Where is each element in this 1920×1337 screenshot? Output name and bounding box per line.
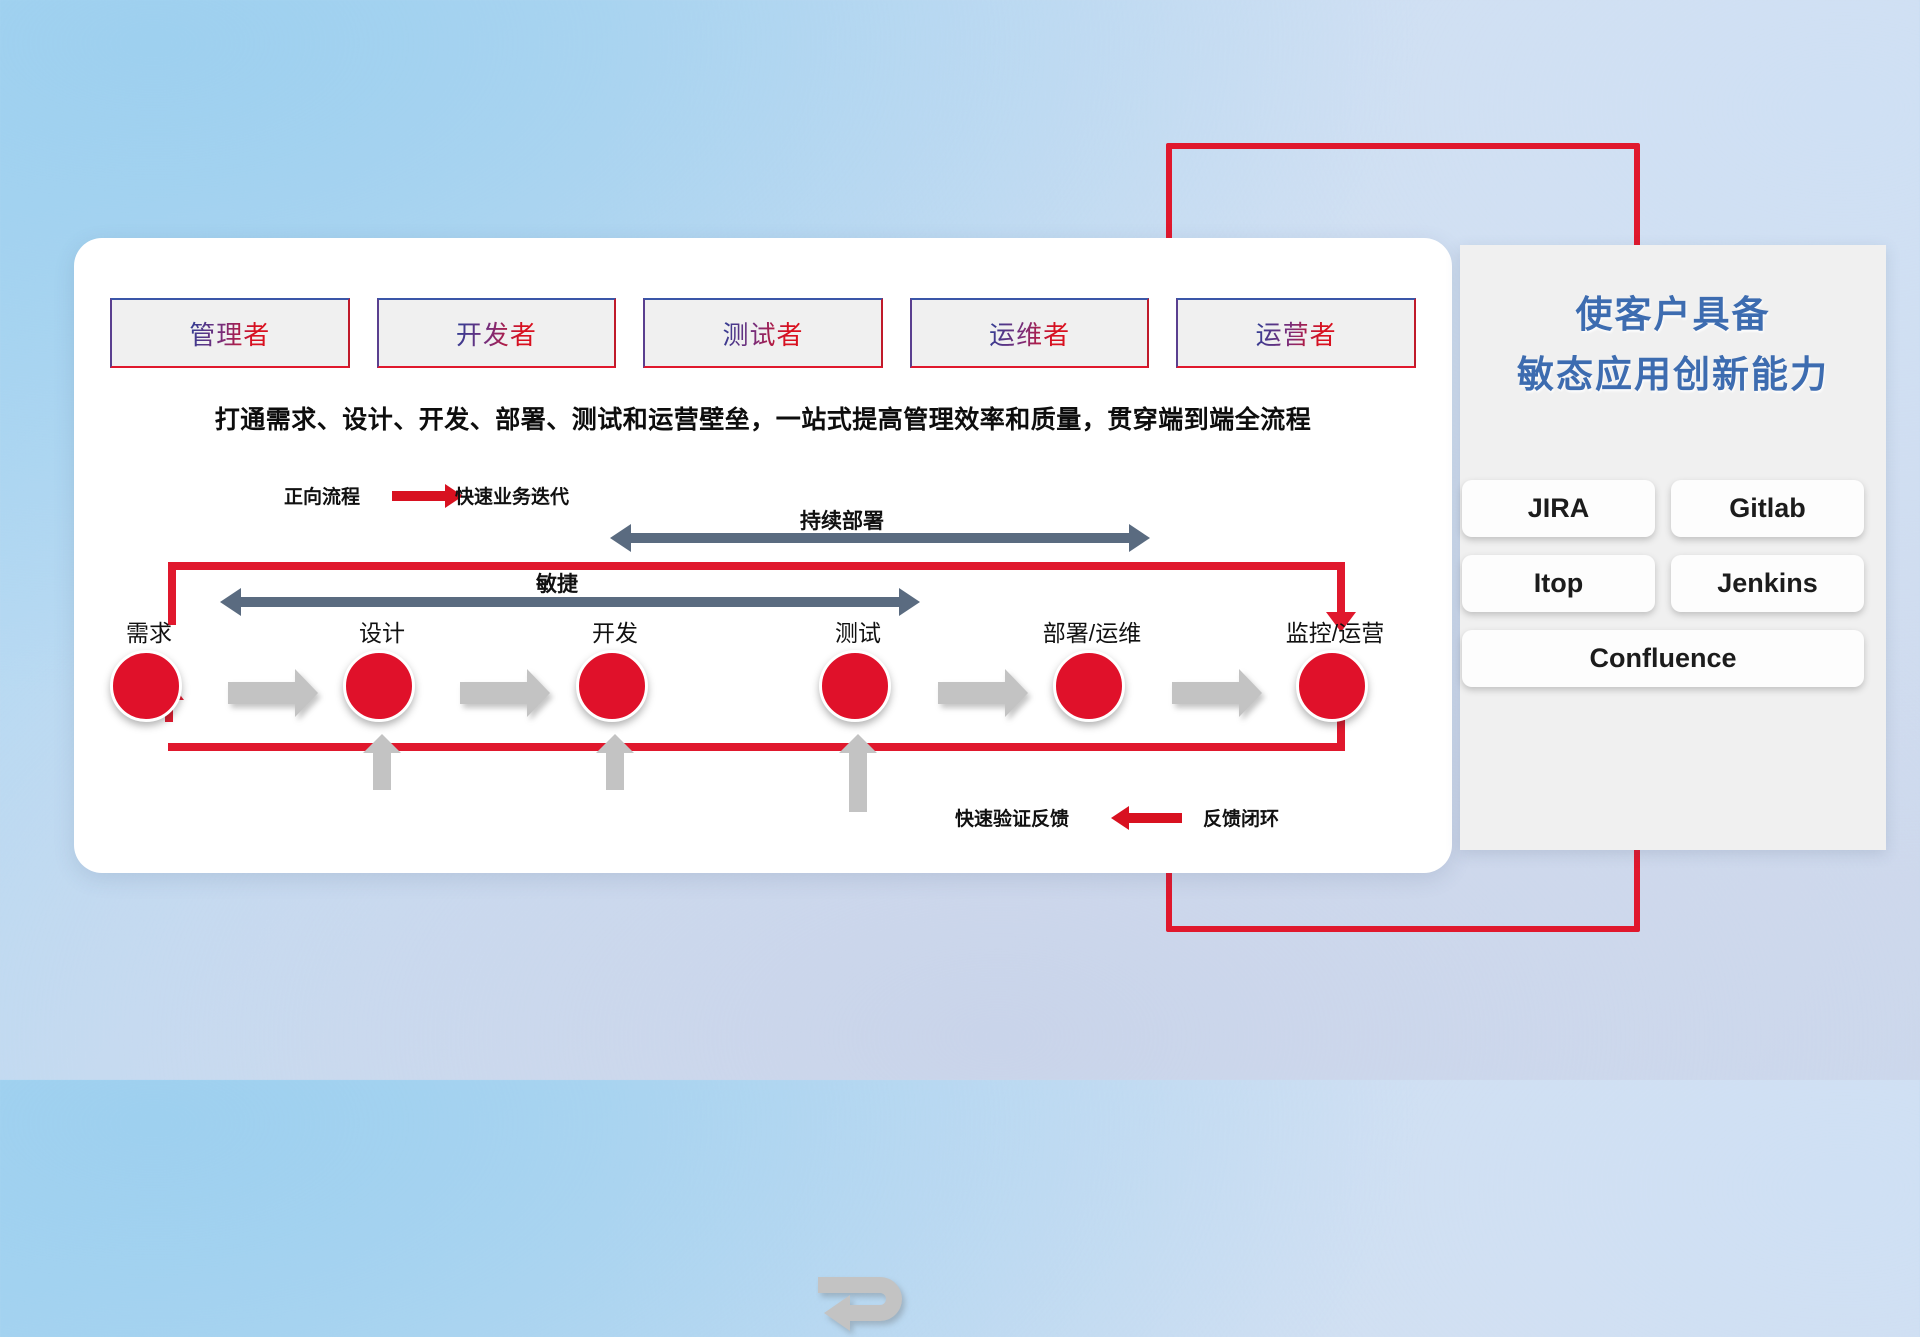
role-label: 运营者 xyxy=(1256,315,1337,352)
role-box-operations[interactable]: 运营者 xyxy=(1176,298,1416,368)
role-box-ops[interactable]: 运维者 xyxy=(910,298,1150,368)
feedback-from-label: 快速验证反馈 xyxy=(955,804,1069,831)
role-label: 开发者 xyxy=(456,315,537,352)
description-text: 打通需求、设计、开发、部署、测试和运营壁垒，一站式提高管理效率和质量，贯穿端到端… xyxy=(74,400,1452,436)
flow-arrow-1-icon xyxy=(228,682,296,704)
flow-arrow-2-icon xyxy=(460,682,528,704)
pipeline-stage-development[interactable]: 开发 xyxy=(576,650,654,728)
pipeline-stage-design[interactable]: 设计 xyxy=(343,650,421,728)
agile-label: 敏捷 xyxy=(536,568,578,598)
stage-riser-icon xyxy=(373,752,391,790)
stage-circle-icon xyxy=(1296,650,1368,722)
iteration-loop-arrow-icon xyxy=(816,1275,920,1337)
feedback-rail-top xyxy=(168,562,1345,570)
stage-label: 需求 xyxy=(126,614,172,648)
tool-chip-confluence[interactable]: Confluence xyxy=(1462,630,1864,687)
feedback-arrow-icon xyxy=(1128,813,1182,823)
stage-label: 测试 xyxy=(835,614,881,648)
role-box-manager[interactable]: 管理者 xyxy=(110,298,350,368)
panel-title-line1: 使客户具备 xyxy=(1576,294,1771,335)
forward-flow-arrow-icon xyxy=(392,491,446,501)
role-label: 管理者 xyxy=(189,315,270,352)
pipeline-stage-deploy-ops[interactable]: 部署/运维 xyxy=(1053,650,1131,728)
tool-chip-jira[interactable]: JIRA xyxy=(1462,480,1655,537)
pipeline-stage-testing[interactable]: 测试 xyxy=(819,650,897,728)
tool-chip-gitlab[interactable]: Gitlab xyxy=(1671,480,1864,537)
tool-chip-jenkins[interactable]: Jenkins xyxy=(1671,555,1864,612)
stage-label: 开发 xyxy=(592,614,638,648)
stage-label: 监控/运营 xyxy=(1286,614,1384,648)
continuous-deployment-label: 持续部署 xyxy=(800,505,884,535)
stage-circle-icon xyxy=(819,650,891,722)
feedback-rail-arrow-down-icon xyxy=(1337,562,1345,612)
agile-double-arrow-icon xyxy=(240,597,900,607)
forward-flow-to-label: 快速业务迭代 xyxy=(455,482,569,509)
tool-chip-itop[interactable]: Itop xyxy=(1462,555,1655,612)
stage-riser-icon xyxy=(606,752,624,790)
role-label: 测试者 xyxy=(722,315,803,352)
flow-arrow-3-icon xyxy=(938,682,1006,704)
forward-flow-from-label: 正向流程 xyxy=(284,482,360,509)
stage-riser-icon xyxy=(849,752,867,812)
slide-canvas: 管理者 开发者 测试者 运维者 运营者 打通需求、设计、开发、部署、测试和运营壁… xyxy=(0,0,1920,1080)
stage-label: 部署/运维 xyxy=(1043,614,1141,648)
tool-chips-grid: JIRA Gitlab Itop Jenkins Confluence xyxy=(1462,480,1882,687)
right-panel-title: 使客户具备 敏态应用创新能力 xyxy=(1460,285,1886,405)
stage-circle-icon xyxy=(110,650,182,722)
stage-circle-icon xyxy=(343,650,415,722)
pipeline-stage-monitor-operations[interactable]: 监控/运营 xyxy=(1296,650,1374,728)
feedback-to-label: 反馈闭环 xyxy=(1203,804,1279,831)
stage-circle-icon xyxy=(1053,650,1125,722)
pipeline-stage-requirement[interactable]: 需求 xyxy=(110,650,188,728)
role-boxes-row: 管理者 开发者 测试者 运维者 运营者 xyxy=(110,298,1416,368)
role-box-tester[interactable]: 测试者 xyxy=(643,298,883,368)
stage-circle-icon xyxy=(576,650,648,722)
pipeline-row: 需求 设计 开发 测试 部署/运维 xyxy=(110,620,1420,730)
role-box-developer[interactable]: 开发者 xyxy=(377,298,617,368)
continuous-deployment-double-arrow-icon xyxy=(630,533,1130,543)
stage-label: 设计 xyxy=(359,614,405,648)
flow-arrow-4-icon xyxy=(1172,682,1240,704)
feedback-rail-bottom xyxy=(168,743,1345,751)
role-label: 运维者 xyxy=(989,315,1070,352)
panel-title-line2: 敏态应用创新能力 xyxy=(1460,345,1886,405)
